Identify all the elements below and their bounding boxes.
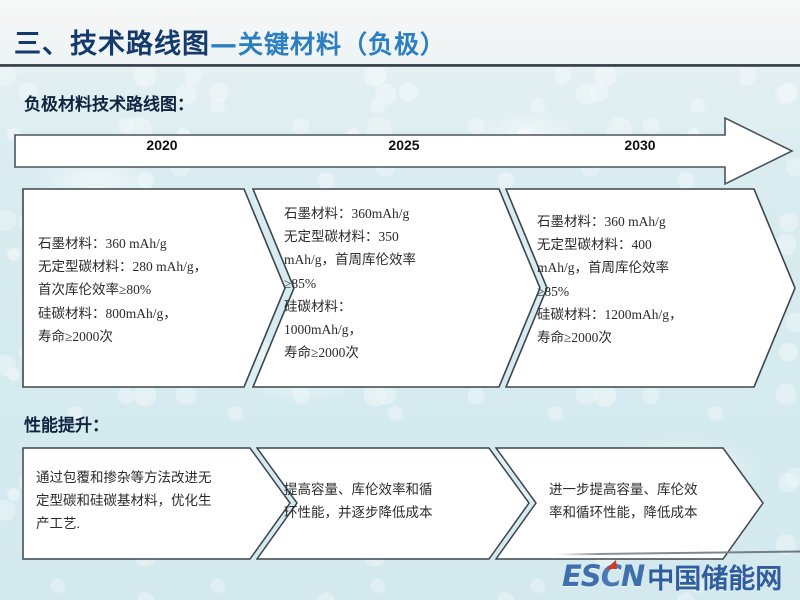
page-title: 三、技术路线图—关键材料（负极） (14, 22, 446, 61)
watermark-brand-n: N (621, 559, 644, 593)
timeline-arrow: 2020 2025 2030 (14, 112, 794, 190)
watermark-brand-latin: ESCN (562, 559, 644, 593)
performance-stage-2[interactable]: 提高容量、库伦效率和循 环性能，并逐步降低成本 (256, 447, 531, 560)
roadmap-stage-2025-text: 石墨材料：360mAh/g 无定型碳材料：350 mAh/g，首周库伦效率 ≥8… (284, 202, 499, 365)
performance-section-label: 性能提升： (24, 411, 109, 436)
watermark-brand-cn: 中国储能网 (647, 557, 782, 596)
performance-stage-1-text: 通过包覆和掺杂等方法改进无 定型碳和硅碳基材料，优化生 产工艺. (36, 466, 241, 536)
watermark-accent-icon (606, 560, 619, 569)
roadmap-stage-2020[interactable]: 石墨材料：360 mAh/g 无定型碳材料：280 mAh/g， 首次库伦效率≥… (22, 188, 287, 388)
performance-stage-2-text: 提高容量、库伦效率和循 环性能，并逐步降低成本 (284, 478, 484, 524)
timeline-year-2020: 2020 (117, 137, 207, 153)
watermark-brand-es: ES (562, 559, 601, 593)
performance-stage-1[interactable]: 通过包覆和掺杂等方法改进无 定型碳和硅碳基材料，优化生 产工艺. (22, 447, 292, 560)
timeline-year-2030: 2030 (595, 137, 685, 153)
timeline-year-2025: 2025 (359, 137, 449, 153)
roadmap-stage-2030-text: 石墨材料：360 mAh/g 无定型碳材料：400 mAh/g，首周库伦效率 ≥… (537, 210, 752, 349)
performance-stage-3-text: 进一步提高容量、库伦效 率和循环性能，降低成本 (549, 478, 749, 524)
page-title-main: 三、技术路线图 (14, 29, 210, 60)
performance-stage-3[interactable]: 进一步提高容量、库伦效 率和循环性能，降低成本 (495, 447, 765, 560)
title-divider-rule (0, 64, 800, 67)
roadmap-stage-2020-text: 石墨材料：360 mAh/g 无定型碳材料：280 mAh/g， 首次库伦效率≥… (38, 232, 238, 348)
slide-canvas: 三、技术路线图—关键材料（负极） 负极材料技术路线图： 2020 2025 20… (0, 0, 800, 600)
watermark-escn: ESCN 中国储能网 (562, 556, 800, 596)
page-title-sub: 关键材料（负极） (238, 30, 446, 59)
page-title-dash: — (210, 29, 238, 60)
roadmap-stage-2030[interactable]: 石墨材料：360 mAh/g 无定型碳材料：400 mAh/g，首周库伦效率 ≥… (505, 188, 797, 388)
roadmap-stage-2025[interactable]: 石墨材料：360mAh/g 无定型碳材料：350 mAh/g，首周库伦效率 ≥8… (252, 188, 542, 388)
